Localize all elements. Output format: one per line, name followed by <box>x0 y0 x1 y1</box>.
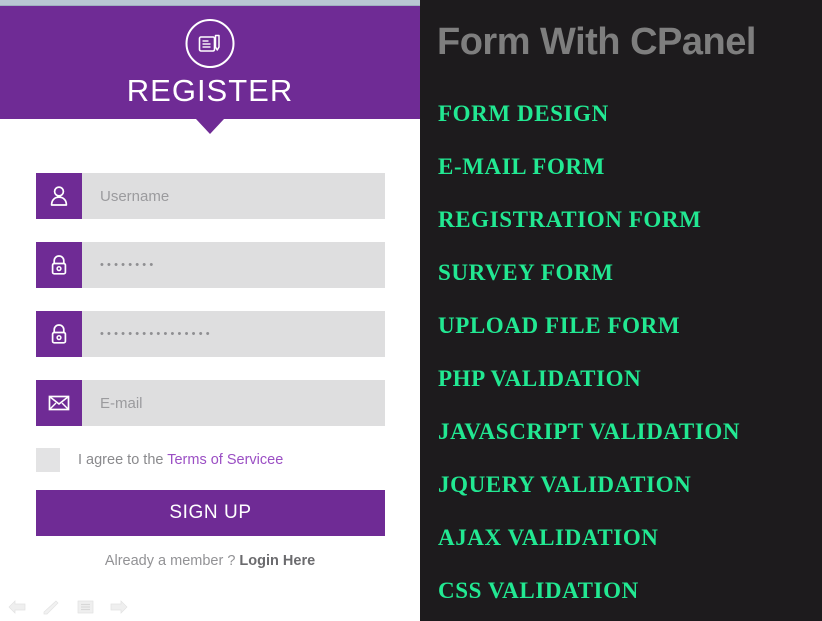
email-input[interactable] <box>82 380 385 426</box>
back-arrow-icon[interactable] <box>8 599 26 615</box>
cpanel-item-email-form[interactable]: E-MAIL FORM <box>438 154 822 180</box>
registration-form-panel: REGISTER <box>0 0 420 621</box>
cpanel-item-survey-form[interactable]: SURVEY FORM <box>438 260 822 286</box>
cpanel-item-jquery-validation[interactable]: JQUERY VALIDATION <box>438 472 822 498</box>
cpanel-title: Form With CPanel <box>437 21 756 64</box>
cpanel-item-php-validation[interactable]: PHP VALIDATION <box>438 366 822 392</box>
confirm-password-input[interactable] <box>82 311 385 357</box>
password-input[interactable] <box>82 242 385 288</box>
cpanel-item-upload-file-form[interactable]: UPLOAD FILE FORM <box>438 313 822 339</box>
bottom-toolbar <box>8 597 148 617</box>
sign-up-button[interactable]: SIGN UP <box>36 490 385 536</box>
lock-icon <box>36 311 82 357</box>
user-icon <box>36 173 82 219</box>
confirm-password-field-row <box>36 311 385 357</box>
pencil-edit-icon[interactable] <box>42 599 60 615</box>
forward-arrow-icon[interactable] <box>110 599 128 615</box>
cpanel-sidebar: Form With CPanel FORM DESIGN E-MAIL FORM… <box>420 0 822 621</box>
cpanel-item-form-design[interactable]: FORM DESIGN <box>438 101 822 127</box>
terms-checkbox[interactable] <box>36 448 60 472</box>
list-menu-icon[interactable] <box>76 599 94 615</box>
cpanel-item-css-validation[interactable]: CSS VALIDATION <box>438 578 822 604</box>
terms-agreement-row: I agree to the Terms of Servicee <box>36 447 385 473</box>
cpanel-item-ajax-validation[interactable]: AJAX VALIDATION <box>438 525 822 551</box>
cpanel-menu: FORM DESIGN E-MAIL FORM REGISTRATION FOR… <box>438 101 822 621</box>
terms-of-service-link[interactable]: Terms of Servicee <box>167 452 283 468</box>
login-here-link[interactable]: Login Here <box>239 553 315 569</box>
username-input[interactable] <box>82 173 385 219</box>
header-pointer-triangle <box>196 119 224 134</box>
password-field-row <box>36 242 385 288</box>
cpanel-item-registration-form[interactable]: REGISTRATION FORM <box>438 207 822 233</box>
form-header-banner: REGISTER <box>0 6 420 119</box>
already-member-row: Already a member ? Login Here <box>0 553 420 569</box>
email-field-row <box>36 380 385 426</box>
cpanel-item-javascript-validation[interactable]: JAVASCRIPT VALIDATION <box>438 419 822 445</box>
already-member-text: Already a member ? <box>105 553 240 569</box>
username-field-row <box>36 173 385 219</box>
envelope-icon <box>36 380 82 426</box>
terms-label: I agree to the Terms of Servicee <box>78 452 283 468</box>
terms-label-text: I agree to the <box>78 452 167 468</box>
register-document-pen-icon <box>186 19 235 68</box>
page-root: REGISTER <box>0 0 822 621</box>
lock-icon <box>36 242 82 288</box>
page-title: REGISTER <box>0 72 420 110</box>
